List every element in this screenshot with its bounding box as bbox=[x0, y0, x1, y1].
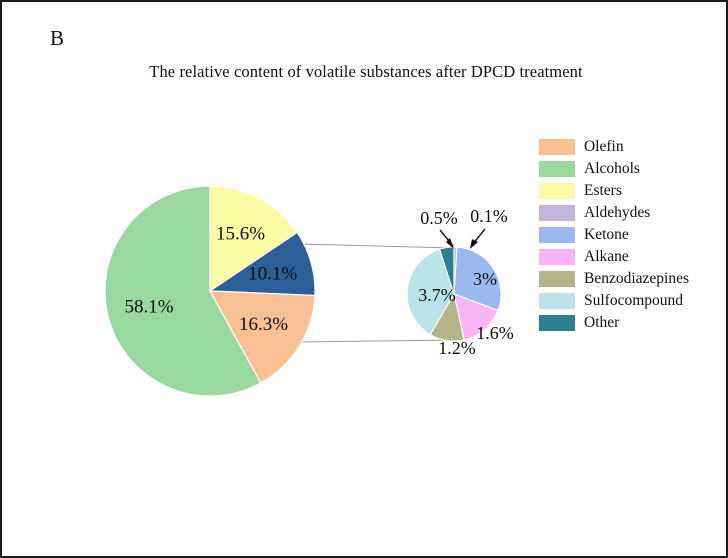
legend-swatch bbox=[539, 249, 575, 265]
legend-label: Esters bbox=[584, 183, 622, 199]
pie-label-sulfocompound: 3.7% bbox=[418, 285, 456, 305]
arrow-head-aldehydes bbox=[470, 239, 478, 249]
legend-swatch bbox=[539, 139, 575, 155]
legend-item[interactable]: Benzodiazepines bbox=[539, 268, 724, 290]
pie-label-aldehydes: 0.1% bbox=[470, 206, 508, 226]
arrow-callouts: 0.5% 0.1% bbox=[420, 206, 508, 249]
pie-label-other: 0.5% bbox=[420, 208, 458, 228]
legend-swatch bbox=[539, 315, 575, 331]
secondary-pie: 3% 1.6% 1.2% 3.7% bbox=[407, 247, 514, 358]
legend-swatch bbox=[539, 183, 575, 199]
pie-label-benzodiazepines: 1.2% bbox=[438, 338, 476, 358]
pie-label-ketone: 3% bbox=[473, 269, 497, 289]
legend-item[interactable]: Aldehydes bbox=[539, 202, 724, 224]
legend-swatch bbox=[539, 227, 575, 243]
legend-label: Benzodiazepines bbox=[584, 271, 689, 287]
legend-item[interactable]: Esters bbox=[539, 180, 724, 202]
legend-item[interactable]: Sulfocompound bbox=[539, 290, 724, 312]
legend-swatch bbox=[539, 205, 575, 221]
legend-label: Aldehydes bbox=[584, 205, 650, 221]
legend-item[interactable]: Alkane bbox=[539, 246, 724, 268]
legend-label: Olefin bbox=[584, 139, 624, 155]
pie-label-olefin: 16.3% bbox=[239, 314, 288, 335]
pie-label-alcohols: 58.1% bbox=[124, 297, 173, 318]
pie-label-esters: 15.6% bbox=[216, 224, 265, 245]
legend-item[interactable]: Ketone bbox=[539, 224, 724, 246]
legend-label: Sulfocompound bbox=[584, 293, 683, 309]
legend-label: Other bbox=[584, 315, 619, 331]
legend-label: Ketone bbox=[584, 227, 629, 243]
pie-label-other-group: 10.1% bbox=[248, 263, 297, 284]
legend: OlefinAlcoholsEstersAldehydesKetoneAlkan… bbox=[539, 136, 724, 334]
legend-item[interactable]: Other bbox=[539, 312, 724, 334]
legend-swatch bbox=[539, 293, 575, 309]
legend-item[interactable]: Alcohols bbox=[539, 158, 724, 180]
pie-label-alkane: 1.6% bbox=[476, 323, 514, 343]
legend-swatch bbox=[539, 271, 575, 287]
legend-item[interactable]: Olefin bbox=[539, 136, 724, 158]
legend-label: Alkane bbox=[584, 249, 629, 265]
main-pie: 58.1% 15.6% 10.1% 16.3% bbox=[105, 186, 315, 396]
figure-panel: B The relative content of volatile subst… bbox=[0, 0, 728, 558]
legend-label: Alcohols bbox=[584, 161, 640, 177]
legend-swatch bbox=[539, 161, 575, 177]
